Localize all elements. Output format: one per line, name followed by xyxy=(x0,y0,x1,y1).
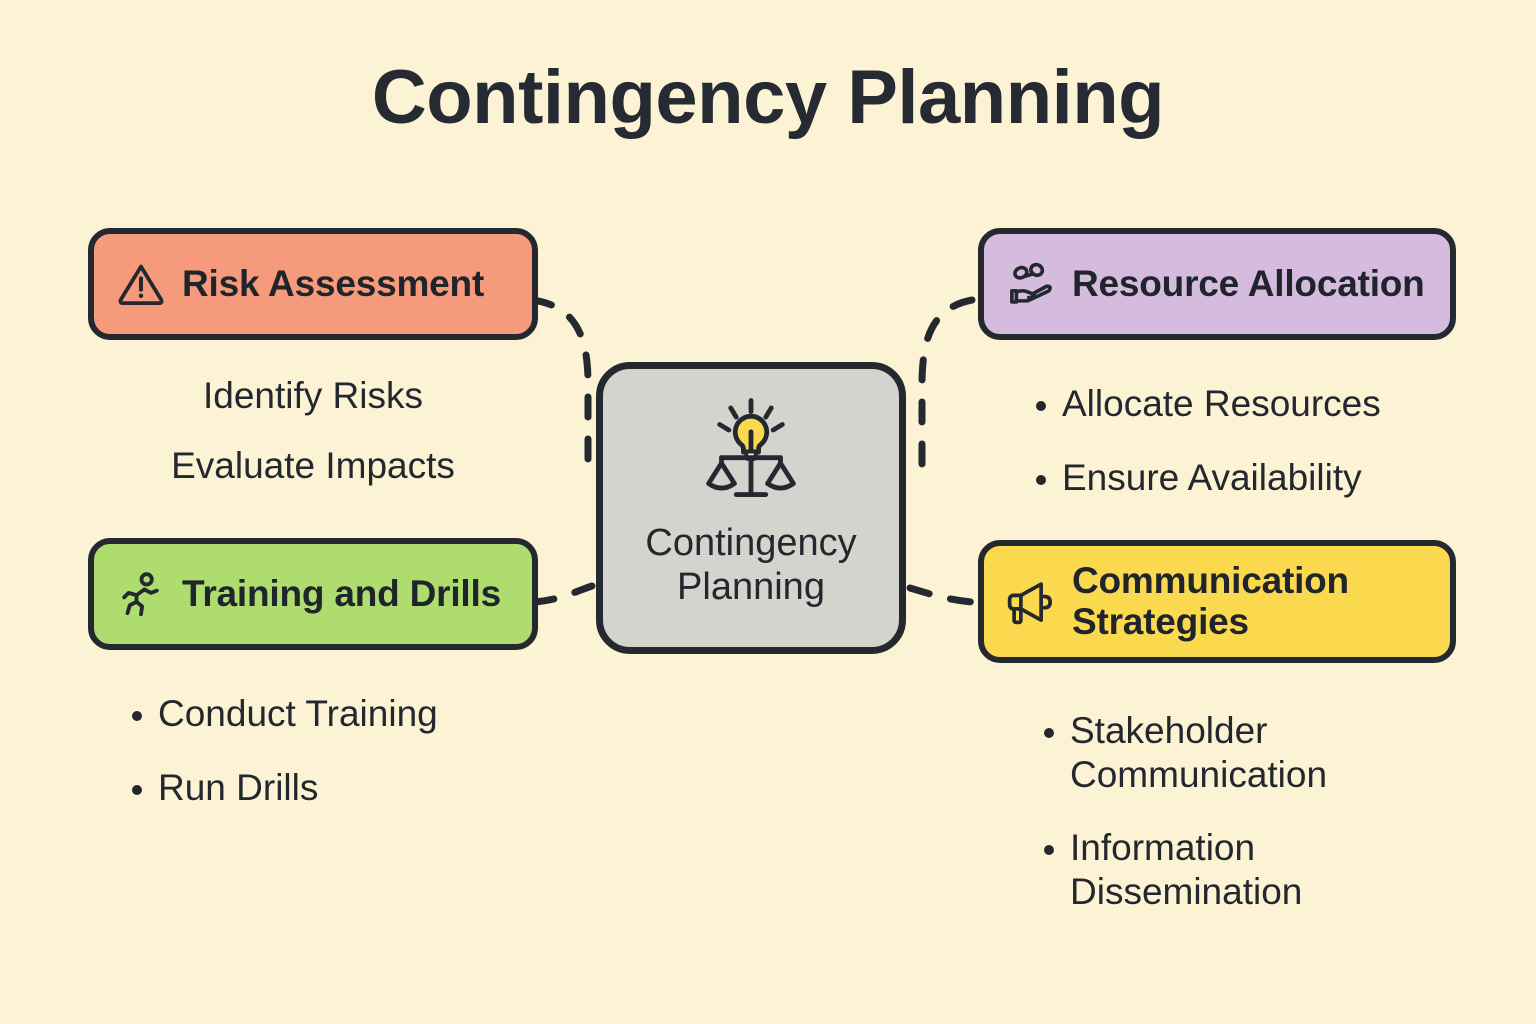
list-item: Allocate Resources xyxy=(1028,382,1456,426)
list-item: Identify Risks xyxy=(88,374,538,418)
center-node-label-line1: Contingency xyxy=(645,521,856,565)
connector-risk-to-center xyxy=(532,300,588,470)
risk-assessment-header[interactable]: Risk Assessment xyxy=(88,228,538,340)
resource-allocation-title: Resource Allocation xyxy=(1072,263,1425,304)
training-and-drills-list: Conduct Training Run Drills xyxy=(88,650,538,809)
risk-assessment-title: Risk Assessment xyxy=(182,263,484,304)
branch-communication-strategies: Communication Strategies Stakeholder Com… xyxy=(978,540,1456,914)
resource-allocation-list: Allocate Resources Ensure Availability xyxy=(978,340,1456,499)
center-node-label: Contingency Planning xyxy=(645,521,856,609)
branch-risk-assessment: Risk Assessment Identify Risks Evaluate … xyxy=(88,228,538,487)
lightbulb-scales-icon xyxy=(692,395,810,513)
connector-training-to-center xyxy=(534,586,592,602)
list-item: Evaluate Impacts xyxy=(88,444,538,488)
communication-strategies-list: Stakeholder Communication Information Di… xyxy=(978,663,1456,914)
training-and-drills-title: Training and Drills xyxy=(182,573,501,614)
training-and-drills-header[interactable]: Training and Drills xyxy=(88,538,538,650)
list-item: Ensure Availability xyxy=(1028,456,1456,500)
megaphone-icon xyxy=(1004,574,1058,628)
resource-allocation-header[interactable]: Resource Allocation xyxy=(978,228,1456,340)
diagram-canvas: Contingency Planning Risk Assessment Ide… xyxy=(0,0,1536,1024)
list-item: Conduct Training xyxy=(124,692,538,736)
page-title: Contingency Planning xyxy=(0,58,1536,138)
center-node-label-line2: Planning xyxy=(645,565,856,609)
list-item: Stakeholder Communication xyxy=(1036,709,1456,796)
list-item: Run Drills xyxy=(124,766,538,810)
running-person-icon xyxy=(114,567,168,621)
branch-resource-allocation: Resource Allocation Allocate Resources E… xyxy=(978,228,1456,499)
communication-strategies-header[interactable]: Communication Strategies xyxy=(978,540,1456,663)
branch-training-and-drills: Training and Drills Conduct Training Run… xyxy=(88,538,538,809)
connector-communication-to-center xyxy=(910,588,972,602)
hand-holding-resources-icon xyxy=(1004,257,1058,311)
list-item: Information Dissemination xyxy=(1036,826,1456,913)
risk-assessment-list: Identify Risks Evaluate Impacts xyxy=(88,340,538,487)
connector-resource-to-center xyxy=(922,300,972,470)
warning-triangle-icon xyxy=(114,257,168,311)
center-node-contingency-planning[interactable]: Contingency Planning xyxy=(596,362,906,654)
communication-strategies-title: Communication Strategies xyxy=(1072,560,1430,643)
